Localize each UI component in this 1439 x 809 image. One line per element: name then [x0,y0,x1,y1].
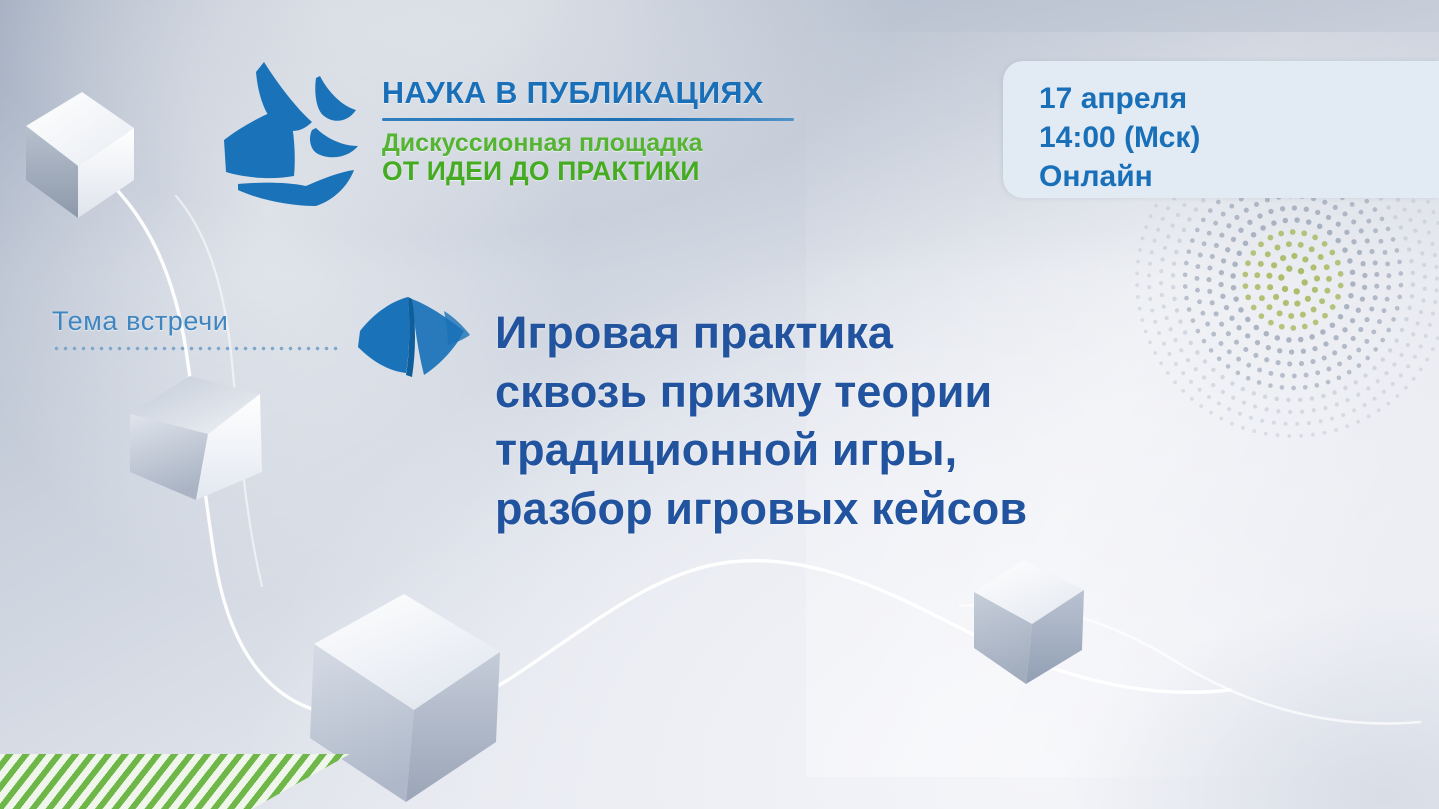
open-book-icon [352,295,472,395]
event-format: Онлайн [1039,157,1439,196]
event-title-line-1: Игровая практика [495,304,1295,363]
logo-text-block: НАУКА В ПУБЛИКАЦИЯХ Дискуссионная площад… [382,54,794,186]
decorative-cube-top-left [8,76,140,226]
event-title-line-3: традиционной игры, [495,421,1295,480]
event-title: Игровая практика сквозь призму теории тр… [495,304,1295,538]
logo-subtitle-primary: Дискуссионная площадка [382,130,794,157]
decorative-cube-middle-left [124,368,284,518]
event-time: 14:00 (Мск) [1039,118,1439,157]
topic-label-group: Тема встречи [52,306,342,351]
promo-banner: НАУКА В ПУБЛИКАЦИЯХ Дискуссионная площад… [0,0,1439,809]
brand-logo: НАУКА В ПУБЛИКАЦИЯХ Дискуссионная площад… [216,54,794,219]
event-date-badge: 17 апреля 14:00 (Мск) Онлайн [1003,61,1439,198]
decorative-cube-right [960,552,1096,698]
bird-and-book-logo-icon [216,54,368,219]
logo-divider [382,118,794,121]
topic-dotted-underline [52,346,342,351]
logo-title: НАУКА В ПУБЛИКАЦИЯХ [382,78,794,109]
event-title-line-4: разбор игровых кейсов [495,480,1295,539]
event-date-badge-content: 17 апреля 14:00 (Мск) Онлайн [1003,61,1439,196]
decorative-cube-bottom-center [288,586,538,809]
logo-subtitle-secondary: ОТ ИДЕИ ДО ПРАКТИКИ [382,157,794,187]
event-title-line-2: сквозь призму теории [495,363,1295,422]
topic-label: Тема встречи [52,306,342,337]
event-date: 17 апреля [1039,79,1439,118]
